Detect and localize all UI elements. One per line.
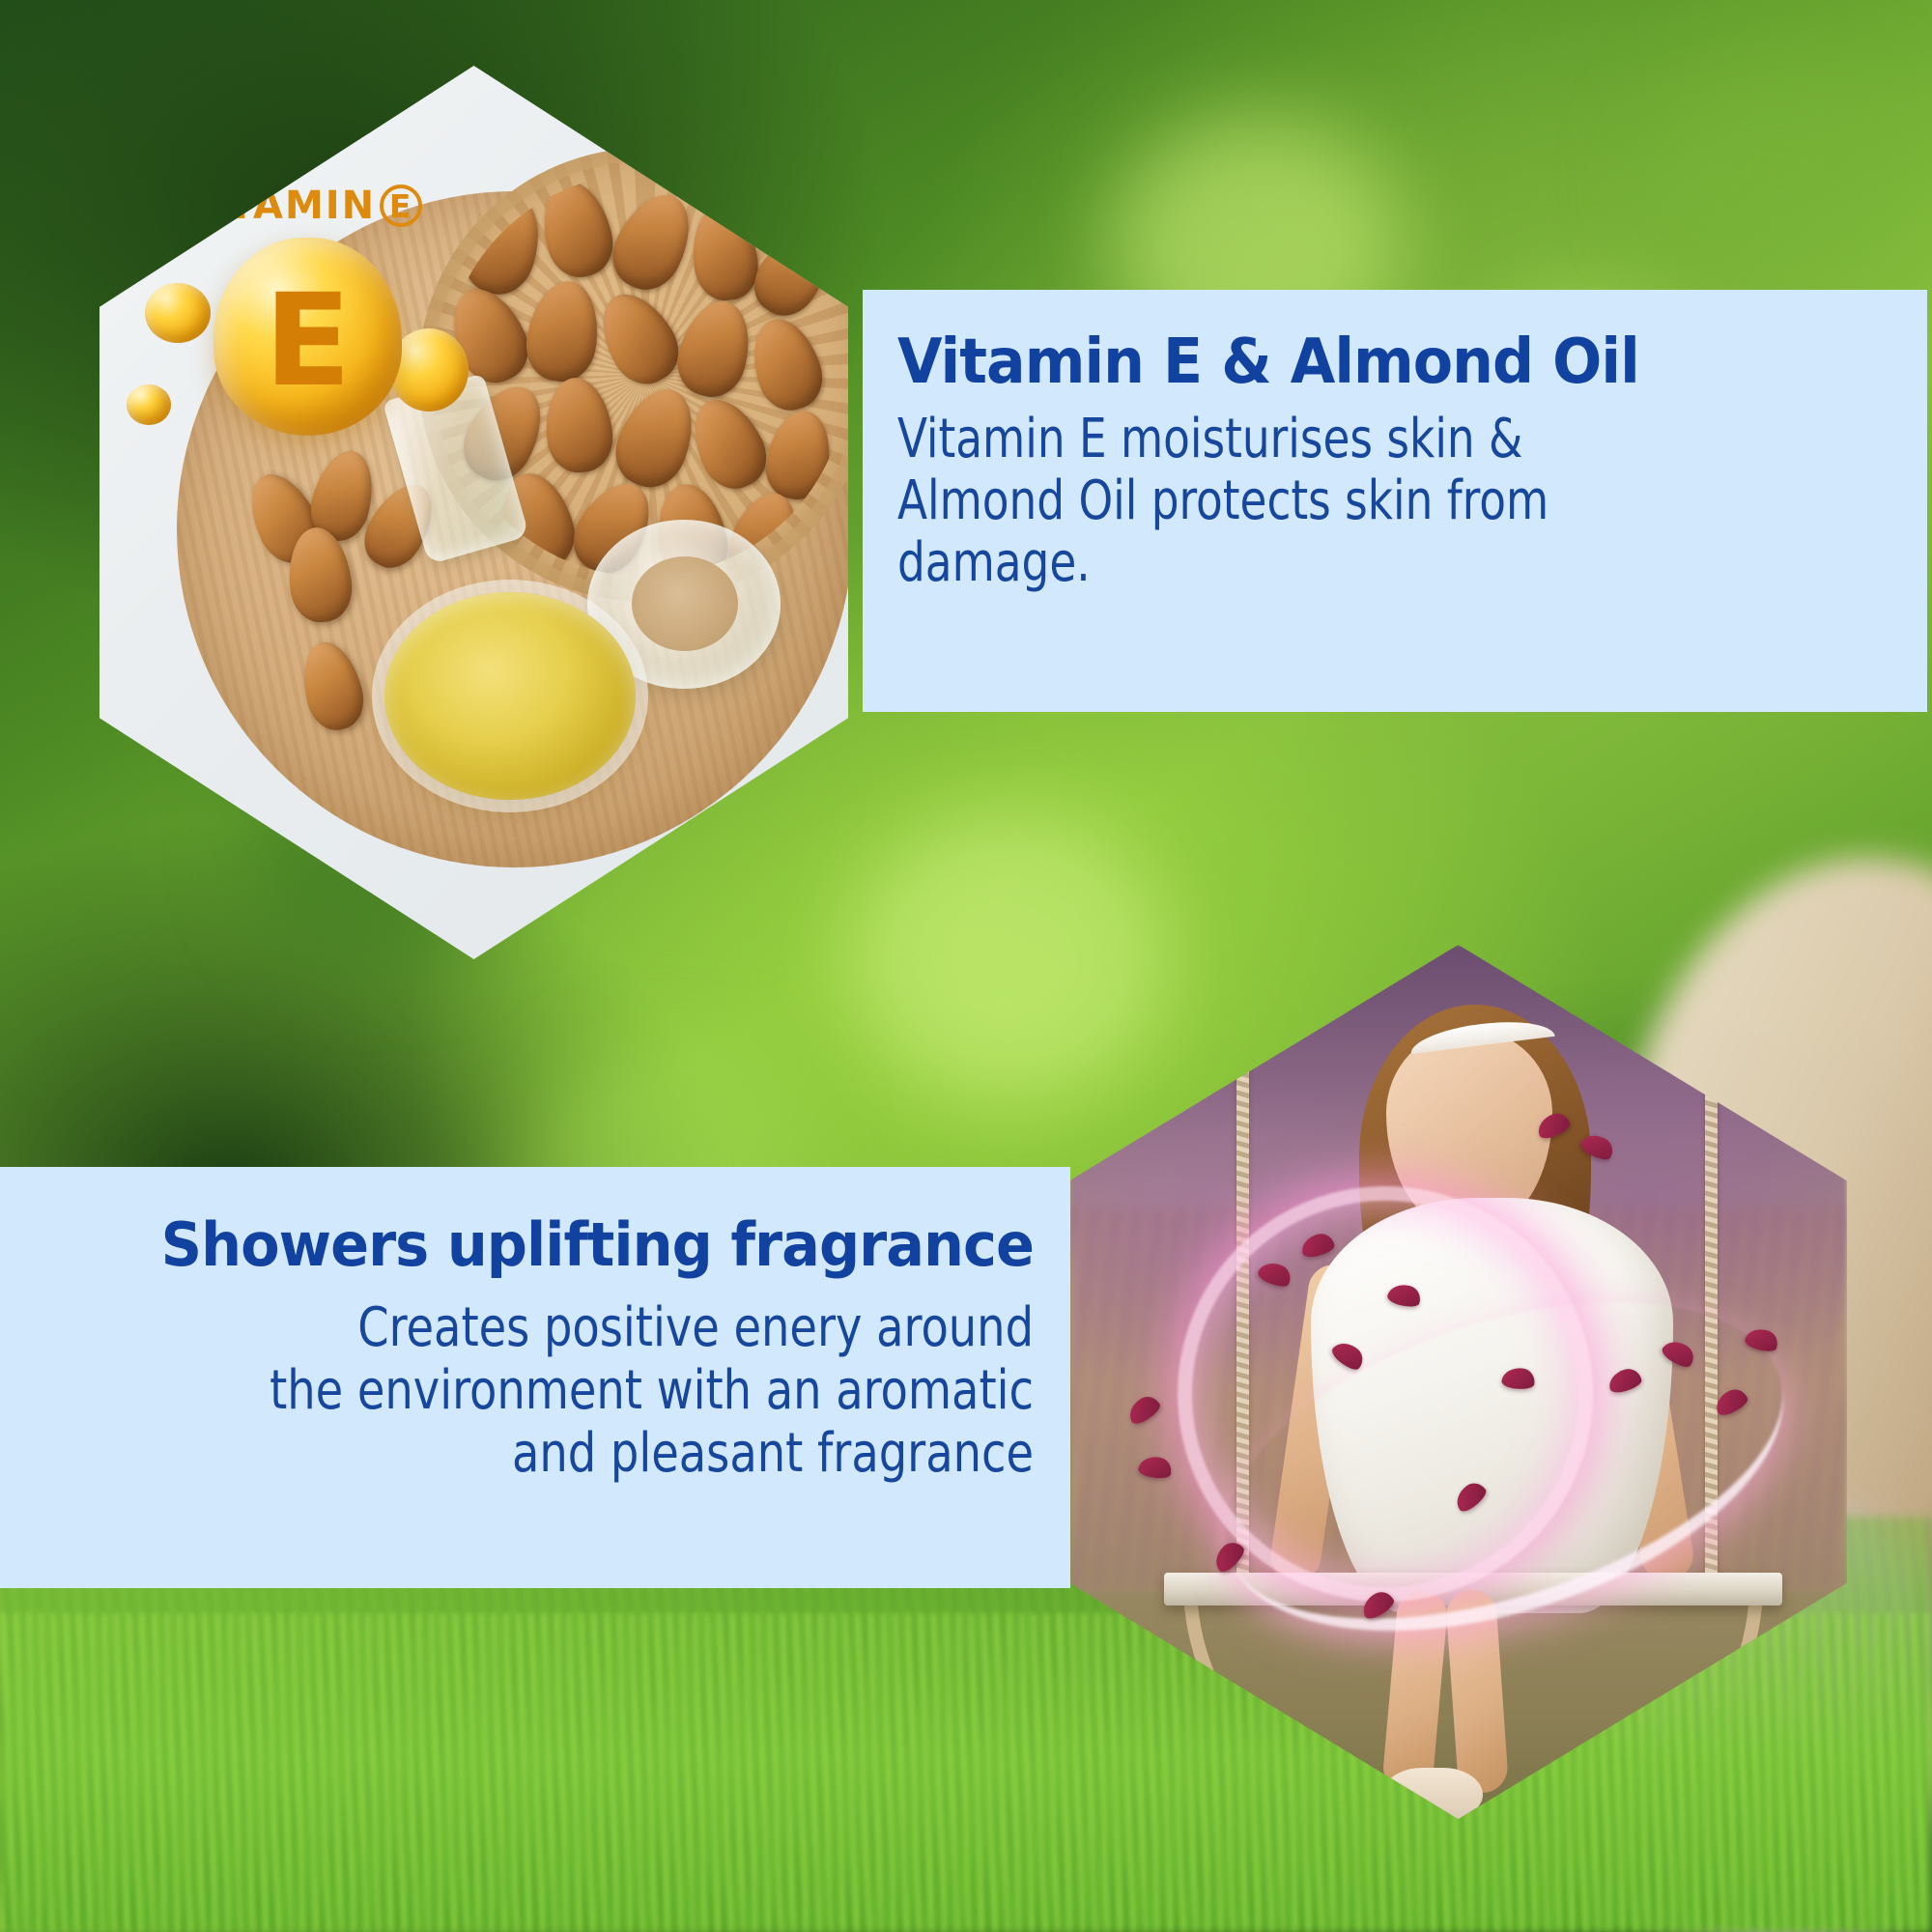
feature-bottom-heading: Showers uplifting fragrance (87, 1213, 1034, 1276)
feature-top-panel: Vitamin E & Almond Oil Vitamin E moistur… (863, 290, 1927, 712)
feature-top-body: Vitamin E moisturises skin & Almond Oil … (897, 409, 1776, 593)
feature-top-body-line: Almond Oil protects skin from (897, 470, 1776, 532)
vitamin-e-capsule-letter: E (213, 277, 402, 405)
feature-top-body-line: damage. (897, 532, 1776, 594)
feature-top-heading: Vitamin E & Almond Oil (897, 330, 1814, 395)
almond-oil-bowl (384, 592, 636, 800)
feature-bottom-body: Creates positive enery around the enviro… (117, 1297, 1034, 1486)
bokeh-blob (850, 811, 1169, 1101)
oil-droplet-icon (145, 283, 211, 343)
feature-top-body-line: Vitamin E moisturises skin & (897, 409, 1776, 470)
bokeh-blob (1642, 58, 1913, 290)
vitamin-badge-letter-icon: E (380, 185, 422, 227)
feature-bottom-body-line: and pleasant fragrance (117, 1423, 1034, 1486)
feature-bottom-panel: Showers uplifting fragrance Creates posi… (0, 1167, 1070, 1588)
feature-bottom-body-line: the environment with an aromatic (117, 1360, 1034, 1423)
feature-bottom-body-line: Creates positive enery around (117, 1297, 1034, 1360)
oil-droplet-icon (127, 384, 171, 425)
vitamin-e-capsule-icon: E (213, 238, 402, 436)
